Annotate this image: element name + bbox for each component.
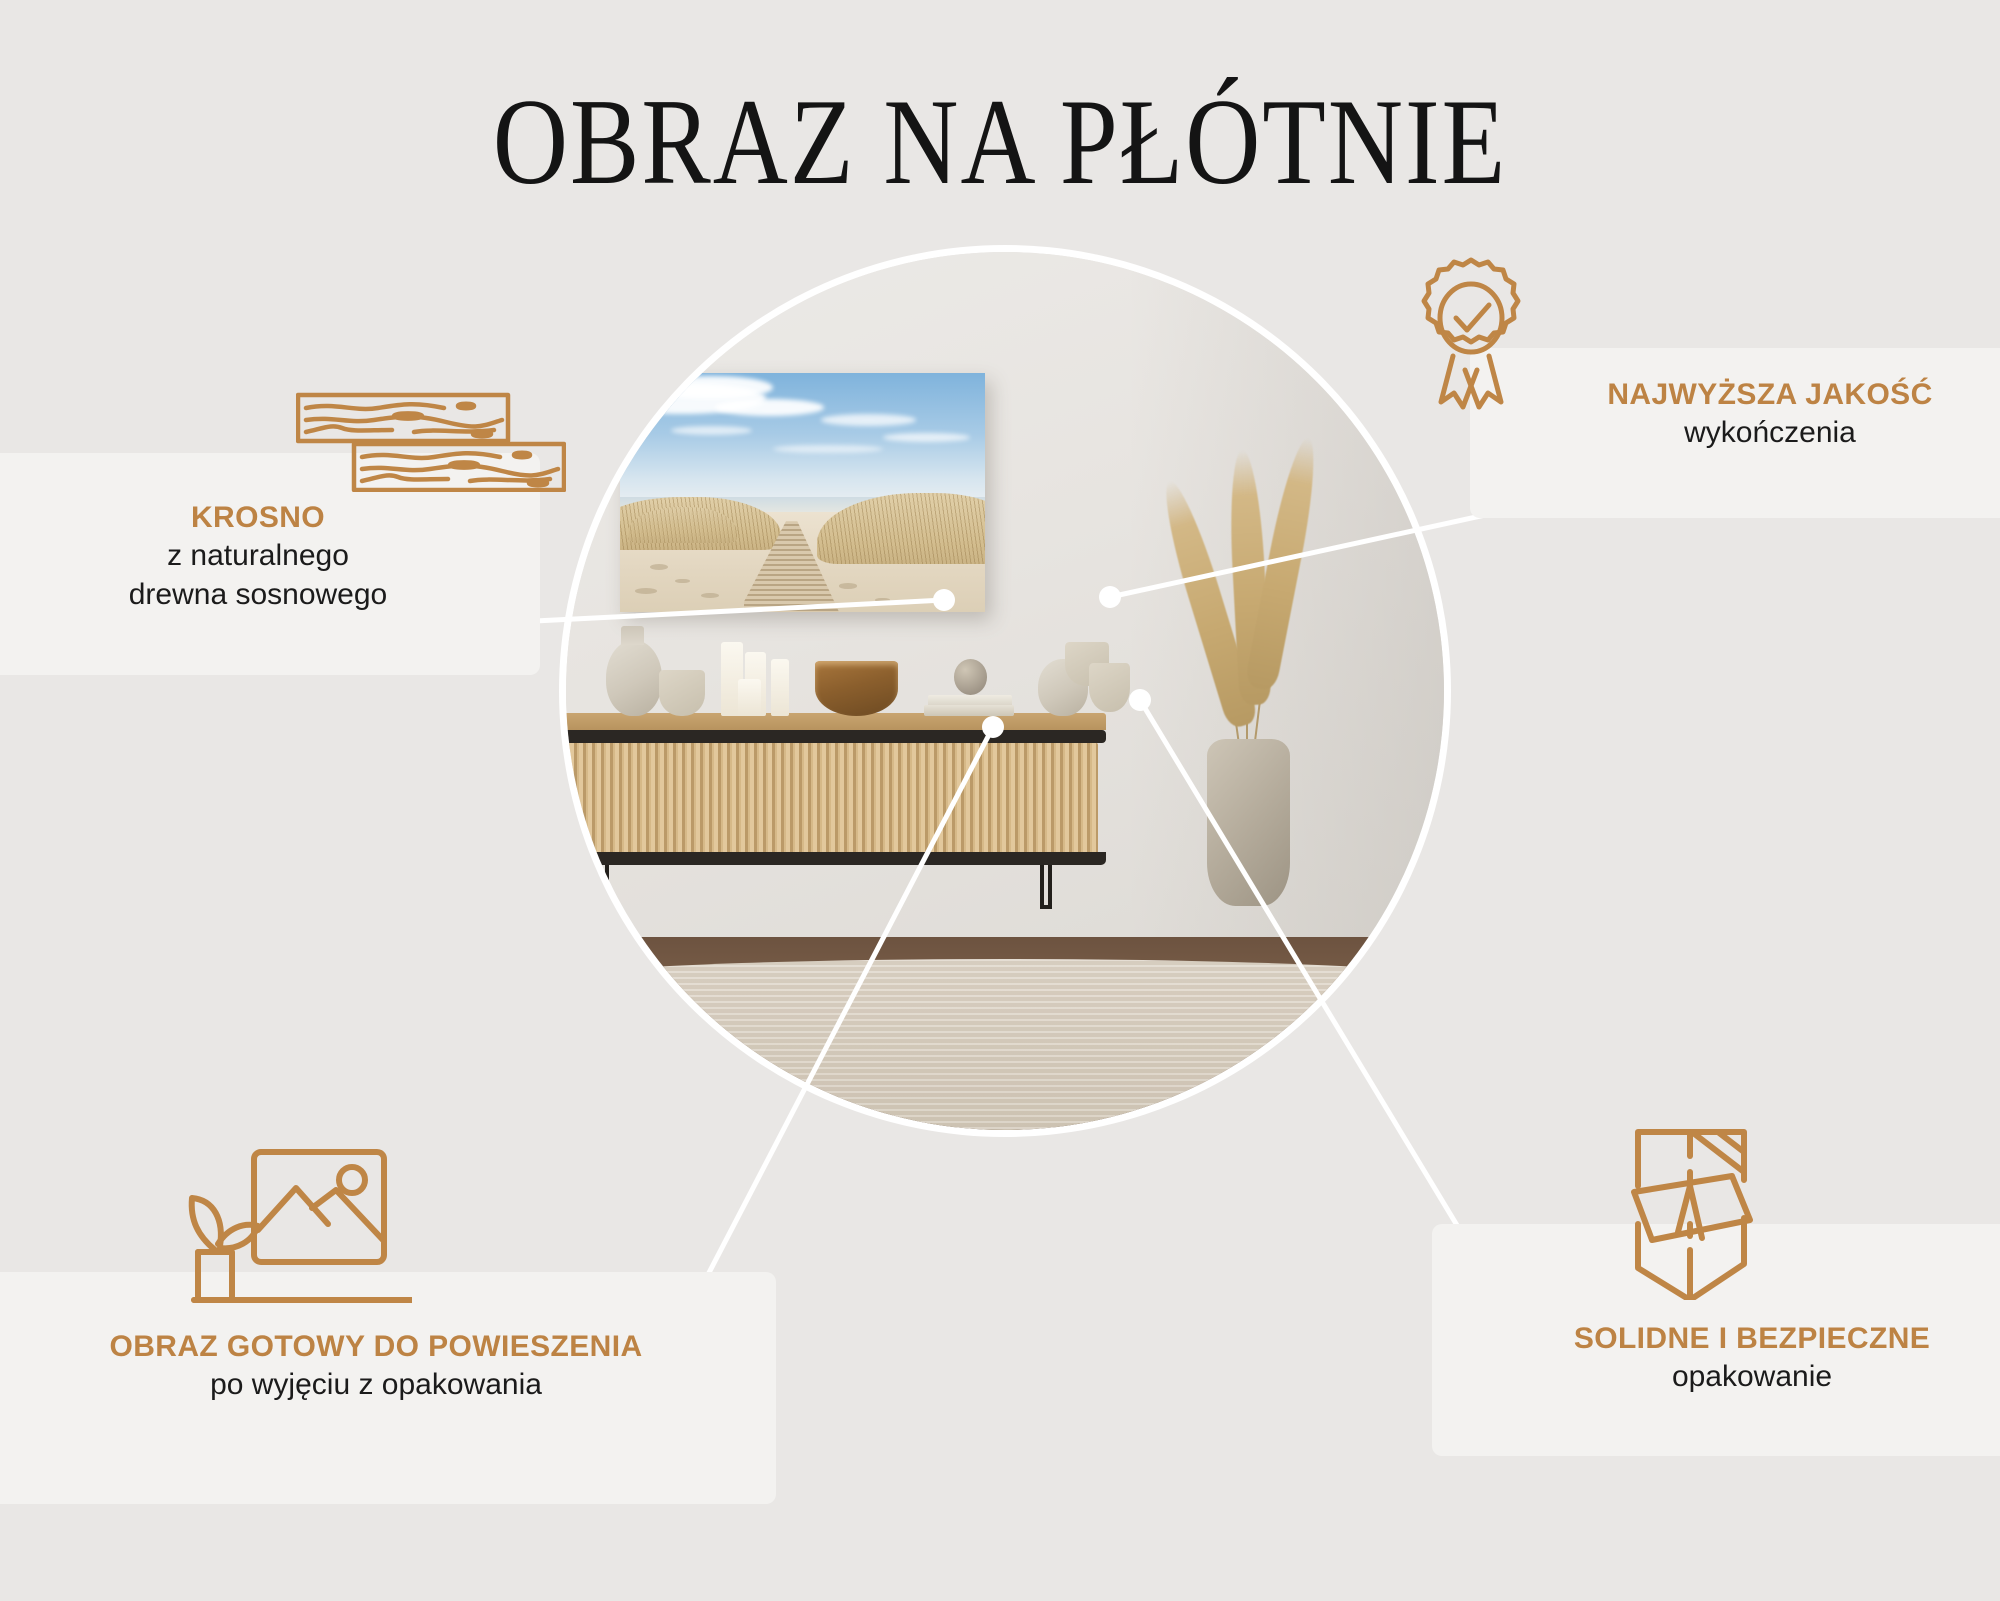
feature-subtitle-gotowy: po wyjęciu z opakowania (0, 1365, 776, 1404)
open-box-icon (1620, 1120, 1780, 1300)
decor-small-bowl (659, 670, 705, 716)
sideboard (566, 713, 1106, 871)
canvas-artwork (620, 373, 984, 612)
decor-round-vase (606, 640, 662, 716)
feature-card-jakosc: NAJWYŻSZA JAKOŚĆ wykończenia (1470, 348, 2000, 518)
page-title: OBRAZ NA PŁÓTNIE (0, 78, 2000, 207)
feature-subtitle-krosno-line1: z naturalnego (0, 536, 540, 575)
feature-title-jakosc: NAJWYŻSZA JAKOŚĆ (1470, 378, 2000, 413)
feature-title-opakowanie: SOLIDNE I BEZPIECZNE (1432, 1322, 2000, 1357)
feature-subtitle-opakowanie: opakowanie (1432, 1357, 2000, 1396)
decor-books-bottom (924, 705, 1014, 716)
pampas-vase (1207, 739, 1290, 906)
wood-planks-icon (296, 392, 566, 492)
decor-candle-thin (771, 659, 789, 715)
feature-subtitle-krosno-line2: drewna sosnowego (0, 575, 540, 614)
room-scene-photo (566, 252, 1444, 1130)
framed-picture-plant-icon (140, 1124, 412, 1330)
quality-badge-icon (1408, 256, 1534, 416)
decor-brass-bowl (815, 661, 898, 715)
rug (566, 959, 1444, 1130)
feature-title-gotowy: OBRAZ GOTOWY DO POWIESZENIA (0, 1330, 776, 1365)
decor-candle-short (738, 679, 761, 716)
feature-subtitle-jakosc: wykończenia (1470, 413, 2000, 452)
infographic-root: OBRAZ NA PŁÓTNIE (0, 0, 2000, 1601)
decor-vase-right-c (1089, 663, 1129, 712)
feature-title-krosno: KROSNO (0, 501, 540, 536)
decor-vase-neck (621, 626, 644, 645)
